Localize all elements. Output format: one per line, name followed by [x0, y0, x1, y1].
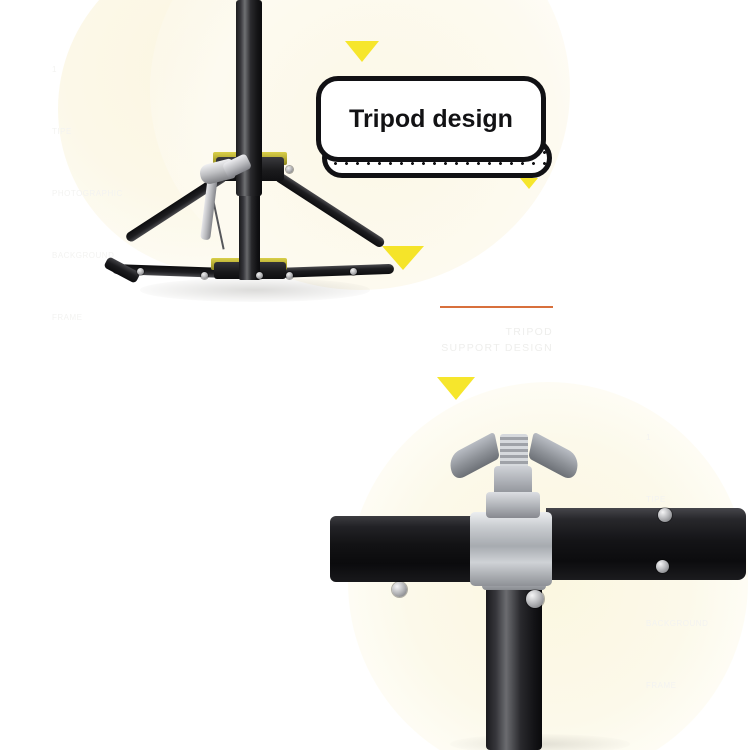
joint-rivet	[286, 166, 293, 173]
wingnut-wing-left	[448, 432, 500, 483]
joint-rivet	[137, 268, 144, 275]
joint-rivet	[286, 272, 293, 279]
center-column-lower	[239, 182, 260, 280]
orange-divider-rule	[440, 306, 553, 308]
crossbar-tube-left	[330, 516, 478, 582]
callout-tripod-design: Tripod design	[316, 76, 546, 162]
crossbar-tube-right	[546, 508, 746, 580]
floor-shadow	[140, 278, 370, 302]
watermark-line-4: FRAME	[52, 312, 123, 324]
yellow-triangle-down-icon	[382, 246, 424, 270]
product-detail-image: 1 TIPE PHOTOGRAPHIC BACKGROUND FRAME	[0, 0, 750, 750]
chrome-clamp-collar	[470, 512, 552, 586]
hardware-screw	[658, 508, 672, 522]
hardware-screw	[656, 560, 669, 573]
wingnut-wing-right	[528, 432, 580, 483]
yellow-triangle-down-icon	[345, 41, 379, 62]
hardware-screw	[526, 590, 544, 608]
caption-tripod-support-design: TRIPOD SUPPORT DESIGN	[383, 324, 553, 357]
joint-rivet	[256, 272, 263, 279]
tripod-foot-left	[103, 256, 140, 283]
yellow-triangle-down-icon	[520, 178, 538, 189]
wingnut-base-washer	[486, 492, 540, 518]
joint-rivet	[350, 268, 357, 275]
callout-box: Tripod design	[316, 76, 546, 162]
crossbar-product-photo	[330, 404, 750, 750]
yellow-triangle-down-icon	[437, 377, 475, 400]
hardware-screw	[392, 582, 407, 597]
joint-rivet	[201, 272, 208, 279]
section-tripod-design: 1 TIPE PHOTOGRAPHIC BACKGROUND FRAME	[0, 0, 750, 372]
section-cross-bar: 1 TIPE PHOTOGRAPHIC BACKGROUND FRAME	[0, 372, 750, 750]
tripod-leg-upper-right	[273, 171, 386, 249]
callout-label: Tripod design	[349, 104, 513, 135]
